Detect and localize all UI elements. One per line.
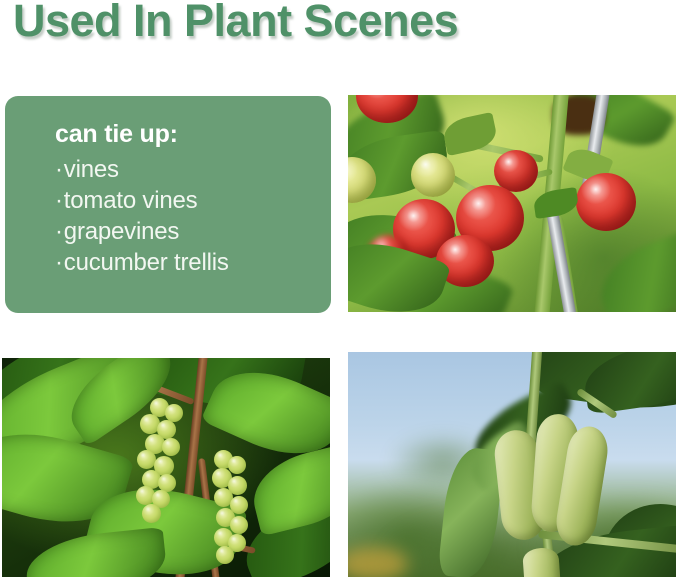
list-item: ·vines [55,154,313,185]
bullet-icon: · [55,247,63,278]
grape-berry [216,546,234,564]
callout-heading: can tie up: [55,118,313,150]
callout-list: ·vines ·tomato vines ·grapevines ·cucumb… [55,154,313,278]
photo-soybeans-canvas [348,352,676,577]
bullet-icon: · [55,216,63,247]
list-item-label: grapevines [64,218,179,245]
photo-tomatoes [348,95,676,312]
tomato-green-shape [411,153,455,197]
leaf-shape [23,527,169,577]
leaf-shape [532,187,579,219]
bullet-icon: · [55,185,63,216]
list-item-label: tomato vines [64,187,198,214]
grape-berry [230,516,248,534]
photo-grapevines [2,358,330,577]
photo-soybeans [348,352,676,577]
grape-berry [142,504,161,523]
leaf-shape [589,228,676,312]
grape-berry [162,438,180,456]
tomato-shape [576,173,636,231]
list-item: ·cucumber trellis [55,247,313,278]
grape-berry [228,456,246,474]
page-title: Used In Plant Scenes [13,0,458,46]
list-item: ·tomato vines [55,185,313,216]
callout-card-tile: can tie up: ·vines ·tomato vines ·grapev… [5,96,331,313]
photo-tomatoes-canvas [348,95,676,312]
list-item-label: cucumber trellis [64,249,229,276]
photo-grapevines-canvas [2,358,330,577]
list-item-label: vines [64,156,119,183]
list-item: ·grapevines [55,216,313,247]
callout-card: can tie up: ·vines ·tomato vines ·grapev… [5,96,331,313]
bullet-icon: · [55,154,63,185]
